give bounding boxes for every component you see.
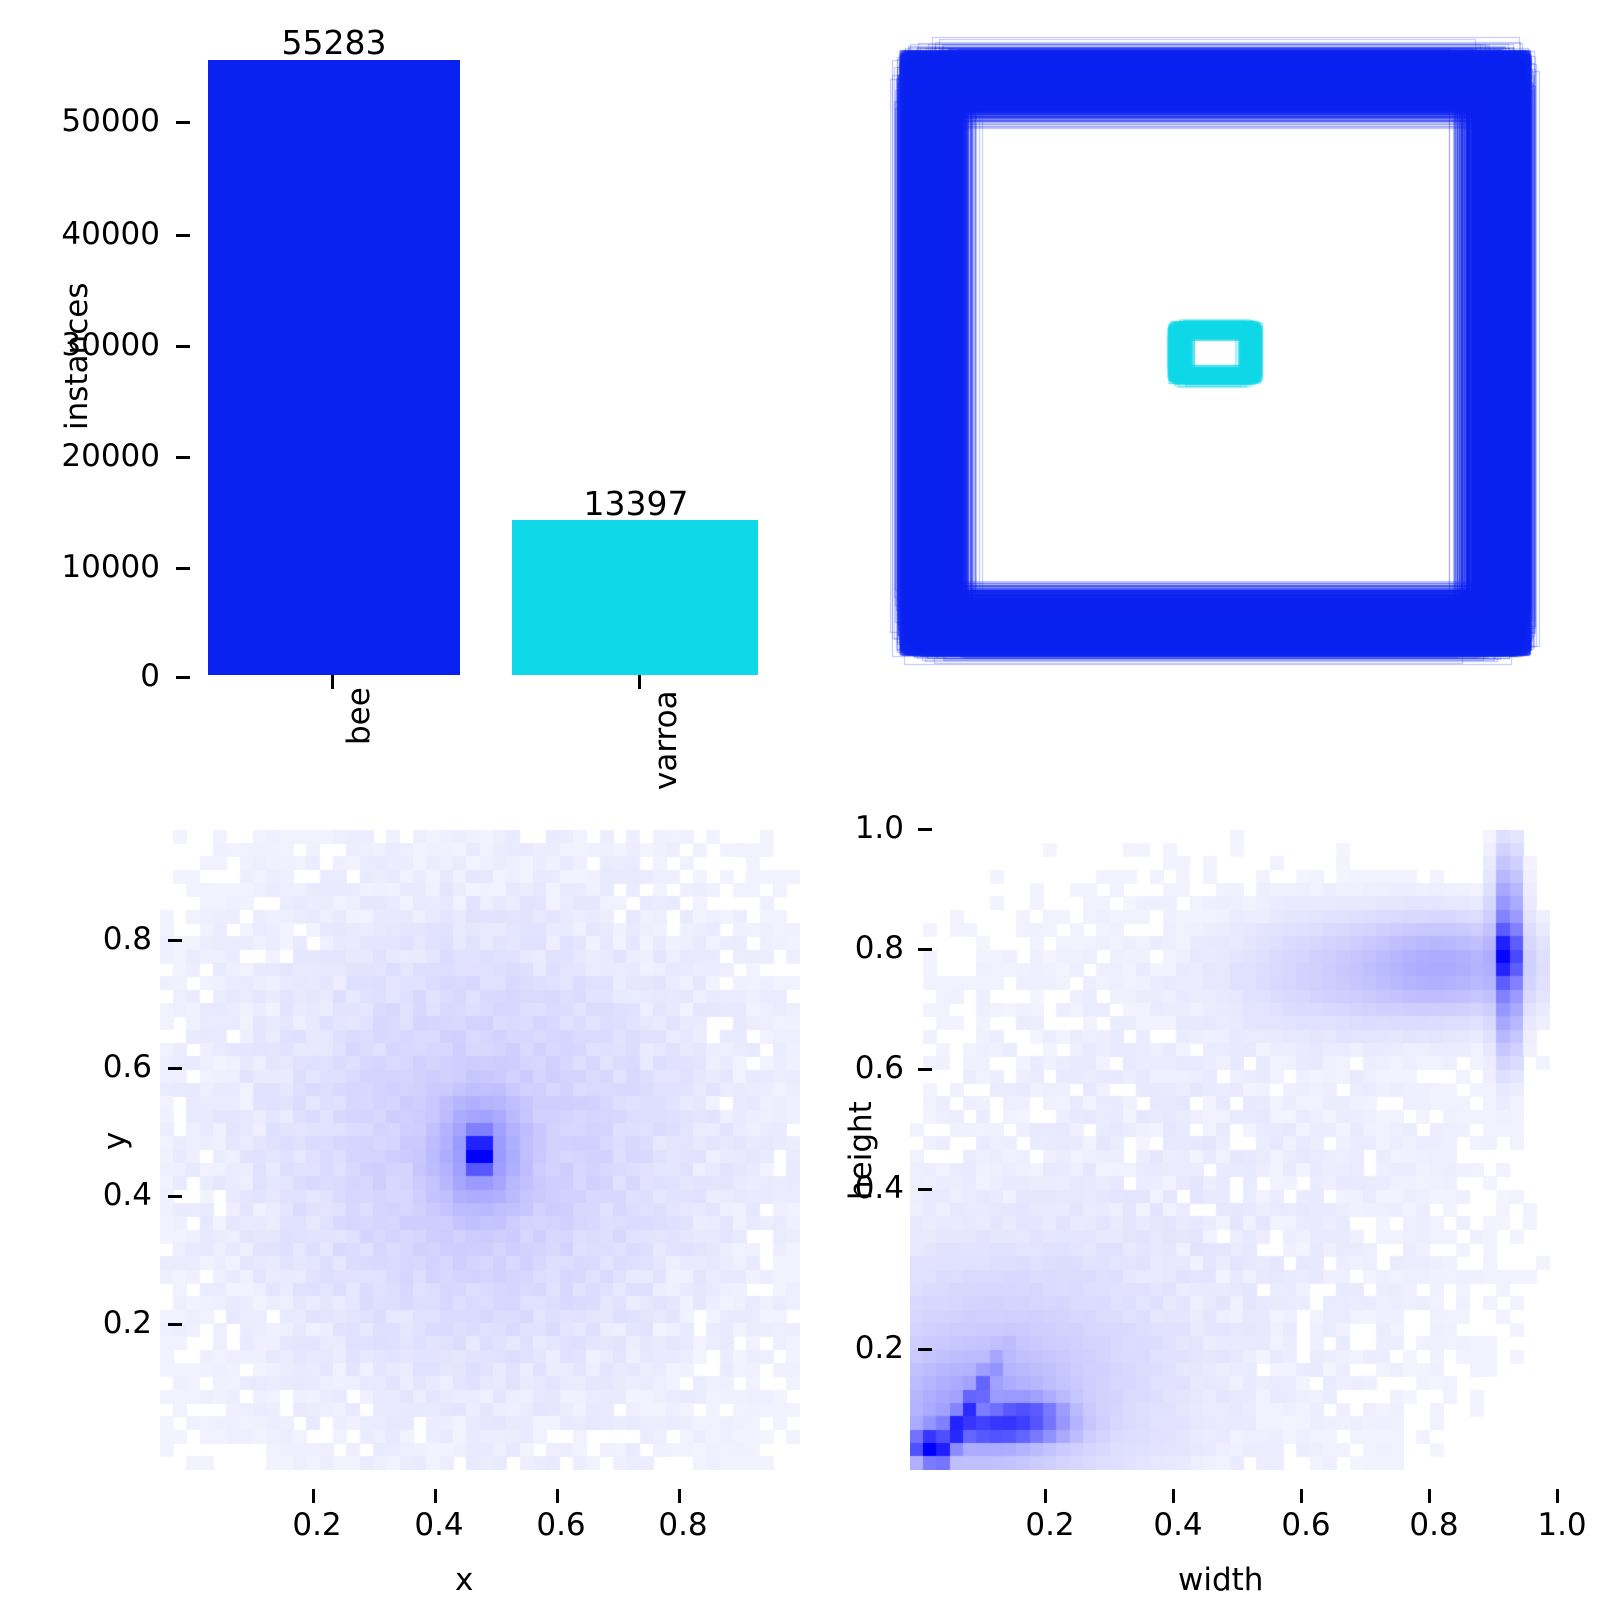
bar-varroa[interactable]	[512, 520, 758, 675]
wh-y-tick-mark	[918, 1348, 932, 1351]
xy-x-axis-title: x	[455, 1565, 473, 1596]
xy-y-tick-0-2: 0.2	[0, 1308, 152, 1339]
wh-y-tick-mark	[918, 828, 932, 831]
bar-y-tick-mark	[176, 345, 190, 348]
bar-y-tick-mark	[176, 234, 190, 237]
xy-histogram-canvas	[160, 830, 800, 1470]
bar-category-label-bee: bee	[344, 687, 375, 745]
xy-y-tick-0-6: 0.6	[0, 1052, 152, 1083]
xy-x-tick-0-4: 0.4	[399, 1510, 479, 1541]
bar-y-tick-0: 0	[0, 661, 160, 692]
wh-x-tick-0-2: 0.2	[1010, 1510, 1090, 1541]
bar-y-tick-40000: 40000	[0, 219, 160, 250]
wh-y-tick-0-2: 0.2	[800, 1333, 904, 1364]
bar-value-bee: 55283	[204, 26, 464, 59]
bar-x-tick-mark-varroa	[638, 675, 641, 689]
bounding-box-overlay-panel	[800, 0, 1600, 800]
instances-bar-chart-panel: instances 50000 40000 30000 20000 10000 …	[0, 0, 800, 800]
wh-y-tick-0-4: 0.4	[800, 1173, 904, 1204]
bar-value-varroa: 13397	[506, 487, 766, 520]
wh-x-tick-0-6: 0.6	[1266, 1510, 1346, 1541]
wh-y-tick-1-0: 1.0	[800, 813, 904, 844]
wh-x-tick-mark	[1428, 1489, 1431, 1503]
width-height-histogram-canvas	[910, 830, 1550, 1470]
wh-x-tick-1-0: 1.0	[1522, 1510, 1600, 1541]
xy-x-tick-mark	[312, 1489, 315, 1503]
xy-y-tick-mark	[168, 1195, 182, 1198]
xy-y-tick-mark	[168, 1323, 182, 1326]
wh-x-tick-mark	[1300, 1489, 1303, 1503]
xy-y-tick-0-8: 0.8	[0, 924, 152, 955]
bar-y-tick-mark	[176, 121, 190, 124]
bar-bee[interactable]	[208, 60, 460, 675]
wh-y-tick-mark	[918, 948, 932, 951]
wh-x-tick-0-4: 0.4	[1138, 1510, 1218, 1541]
wh-x-tick-mark	[1044, 1489, 1047, 1503]
xy-x-tick-mark	[678, 1489, 681, 1503]
xy-x-tick-mark	[434, 1489, 437, 1503]
wh-y-tick-0-6: 0.6	[800, 1053, 904, 1084]
xy-x-tick-0-8: 0.8	[643, 1510, 723, 1541]
wh-y-tick-mark	[918, 1188, 932, 1191]
bar-y-tick-mark	[176, 456, 190, 459]
bar-y-tick-mark	[176, 567, 190, 570]
bar-y-tick-30000: 30000	[0, 330, 160, 361]
xy-x-tick-mark	[556, 1489, 559, 1503]
bar-y-tick-10000: 10000	[0, 552, 160, 583]
xy-histogram-panel: y 0.8 0.6 0.4 0.2 0.2 0.4 0.6 0.8 x	[0, 800, 800, 1600]
xy-y-axis-title: y	[100, 1132, 131, 1150]
bounding-box-overlay-canvas	[800, 0, 1600, 800]
bar-x-tick-mark-bee	[331, 675, 334, 689]
wh-x-tick-0-8: 0.8	[1394, 1510, 1474, 1541]
width-height-histogram-panel: height 1.0 0.8 0.6 0.4 0.2 0.2 0.4 0.6 0…	[800, 800, 1600, 1600]
bar-y-tick-mark	[176, 676, 190, 679]
bar-category-label-varroa: varroa	[651, 690, 682, 790]
wh-y-tick-mark	[918, 1068, 932, 1071]
xy-x-tick-0-2: 0.2	[277, 1510, 357, 1541]
wh-x-tick-mark	[1172, 1489, 1175, 1503]
xy-y-tick-mark	[168, 939, 182, 942]
wh-y-tick-0-8: 0.8	[800, 933, 904, 964]
wh-x-axis-title: width	[1178, 1565, 1263, 1596]
labels-figure: instances 50000 40000 30000 20000 10000 …	[0, 0, 1600, 1600]
xy-y-tick-mark	[168, 1067, 182, 1070]
xy-x-tick-0-6: 0.6	[521, 1510, 601, 1541]
bar-y-tick-50000: 50000	[0, 106, 160, 137]
bar-y-tick-20000: 20000	[0, 441, 160, 472]
xy-y-tick-0-4: 0.4	[0, 1180, 152, 1211]
wh-x-tick-mark	[1556, 1489, 1559, 1503]
